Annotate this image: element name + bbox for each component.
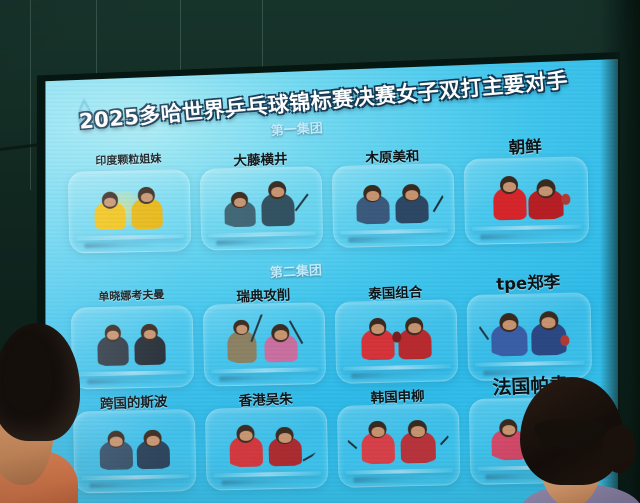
paddle-icon bbox=[562, 193, 571, 204]
paddle-icon bbox=[392, 331, 401, 342]
athlete-figure bbox=[398, 328, 431, 360]
wall-seam bbox=[30, 0, 31, 190]
athlete-figure bbox=[224, 200, 255, 227]
card-label: 香港吴朱 bbox=[238, 387, 293, 409]
racket-icon bbox=[294, 192, 309, 211]
card-label: 泰国组合 bbox=[368, 280, 423, 302]
opponent-card[interactable]: 瑞典攻削 bbox=[203, 302, 327, 387]
athlete-figure bbox=[131, 197, 162, 229]
guest-left-hair bbox=[0, 323, 80, 441]
card-label: 印度颗粒姐妹 bbox=[95, 150, 162, 169]
opponent-photo bbox=[347, 415, 451, 468]
athlete-figure bbox=[264, 334, 297, 363]
athlete-figure bbox=[261, 192, 295, 226]
athlete-figure bbox=[100, 440, 133, 470]
opponent-card[interactable]: 大藤横井 bbox=[200, 166, 324, 251]
athlete-figure bbox=[134, 334, 165, 365]
athlete-figure bbox=[361, 431, 394, 464]
athlete-figure bbox=[395, 194, 428, 224]
card-label: 跨国的斯波 bbox=[100, 390, 168, 413]
athlete-figure bbox=[356, 194, 389, 224]
athlete-figure bbox=[230, 435, 263, 467]
opponent-card[interactable]: 印度颗粒姐妹 bbox=[68, 169, 192, 254]
athlete-figure bbox=[361, 328, 394, 360]
opponent-card[interactable]: tpe郑李 bbox=[466, 292, 592, 381]
card-label: 单晓娜考夫曼 bbox=[98, 286, 165, 305]
card-label: tpe郑李 bbox=[496, 268, 561, 294]
card-label: 朝鲜 bbox=[508, 133, 542, 158]
athlete-figure bbox=[97, 335, 128, 366]
paddle-icon bbox=[561, 335, 570, 346]
card-label: 韩国申柳 bbox=[370, 384, 425, 406]
opponent-card[interactable]: 韩国申柳 bbox=[337, 403, 461, 488]
athlete-figure bbox=[400, 430, 436, 463]
athlete-figure bbox=[268, 436, 301, 466]
card-label: 木原美和 bbox=[365, 145, 420, 167]
card-label: 大藤横井 bbox=[233, 147, 288, 169]
athlete-figure bbox=[94, 201, 125, 230]
guest-right-bun bbox=[602, 425, 636, 473]
opponent-card[interactable]: 香港吴朱 bbox=[205, 406, 329, 491]
athlete-figure bbox=[493, 187, 527, 221]
card-label: 瑞典攻削 bbox=[236, 283, 291, 305]
opponent-card[interactable]: 朝鲜 bbox=[463, 156, 589, 245]
studio-guest-right bbox=[510, 377, 636, 503]
screenshot-stage: 2025多哈世界乒乓球锦标赛决赛女子双打主要对手 第一集团 第二集团 印度颗粒姐… bbox=[0, 0, 640, 503]
athlete-figure bbox=[137, 439, 170, 469]
athlete-figure bbox=[528, 189, 564, 220]
athlete-figure bbox=[492, 324, 528, 357]
opponent-card[interactable]: 泰国组合 bbox=[335, 299, 459, 384]
opponent-card[interactable]: 木原美和 bbox=[332, 163, 456, 248]
racket-icon bbox=[250, 314, 262, 343]
studio-guest-left bbox=[0, 323, 94, 503]
